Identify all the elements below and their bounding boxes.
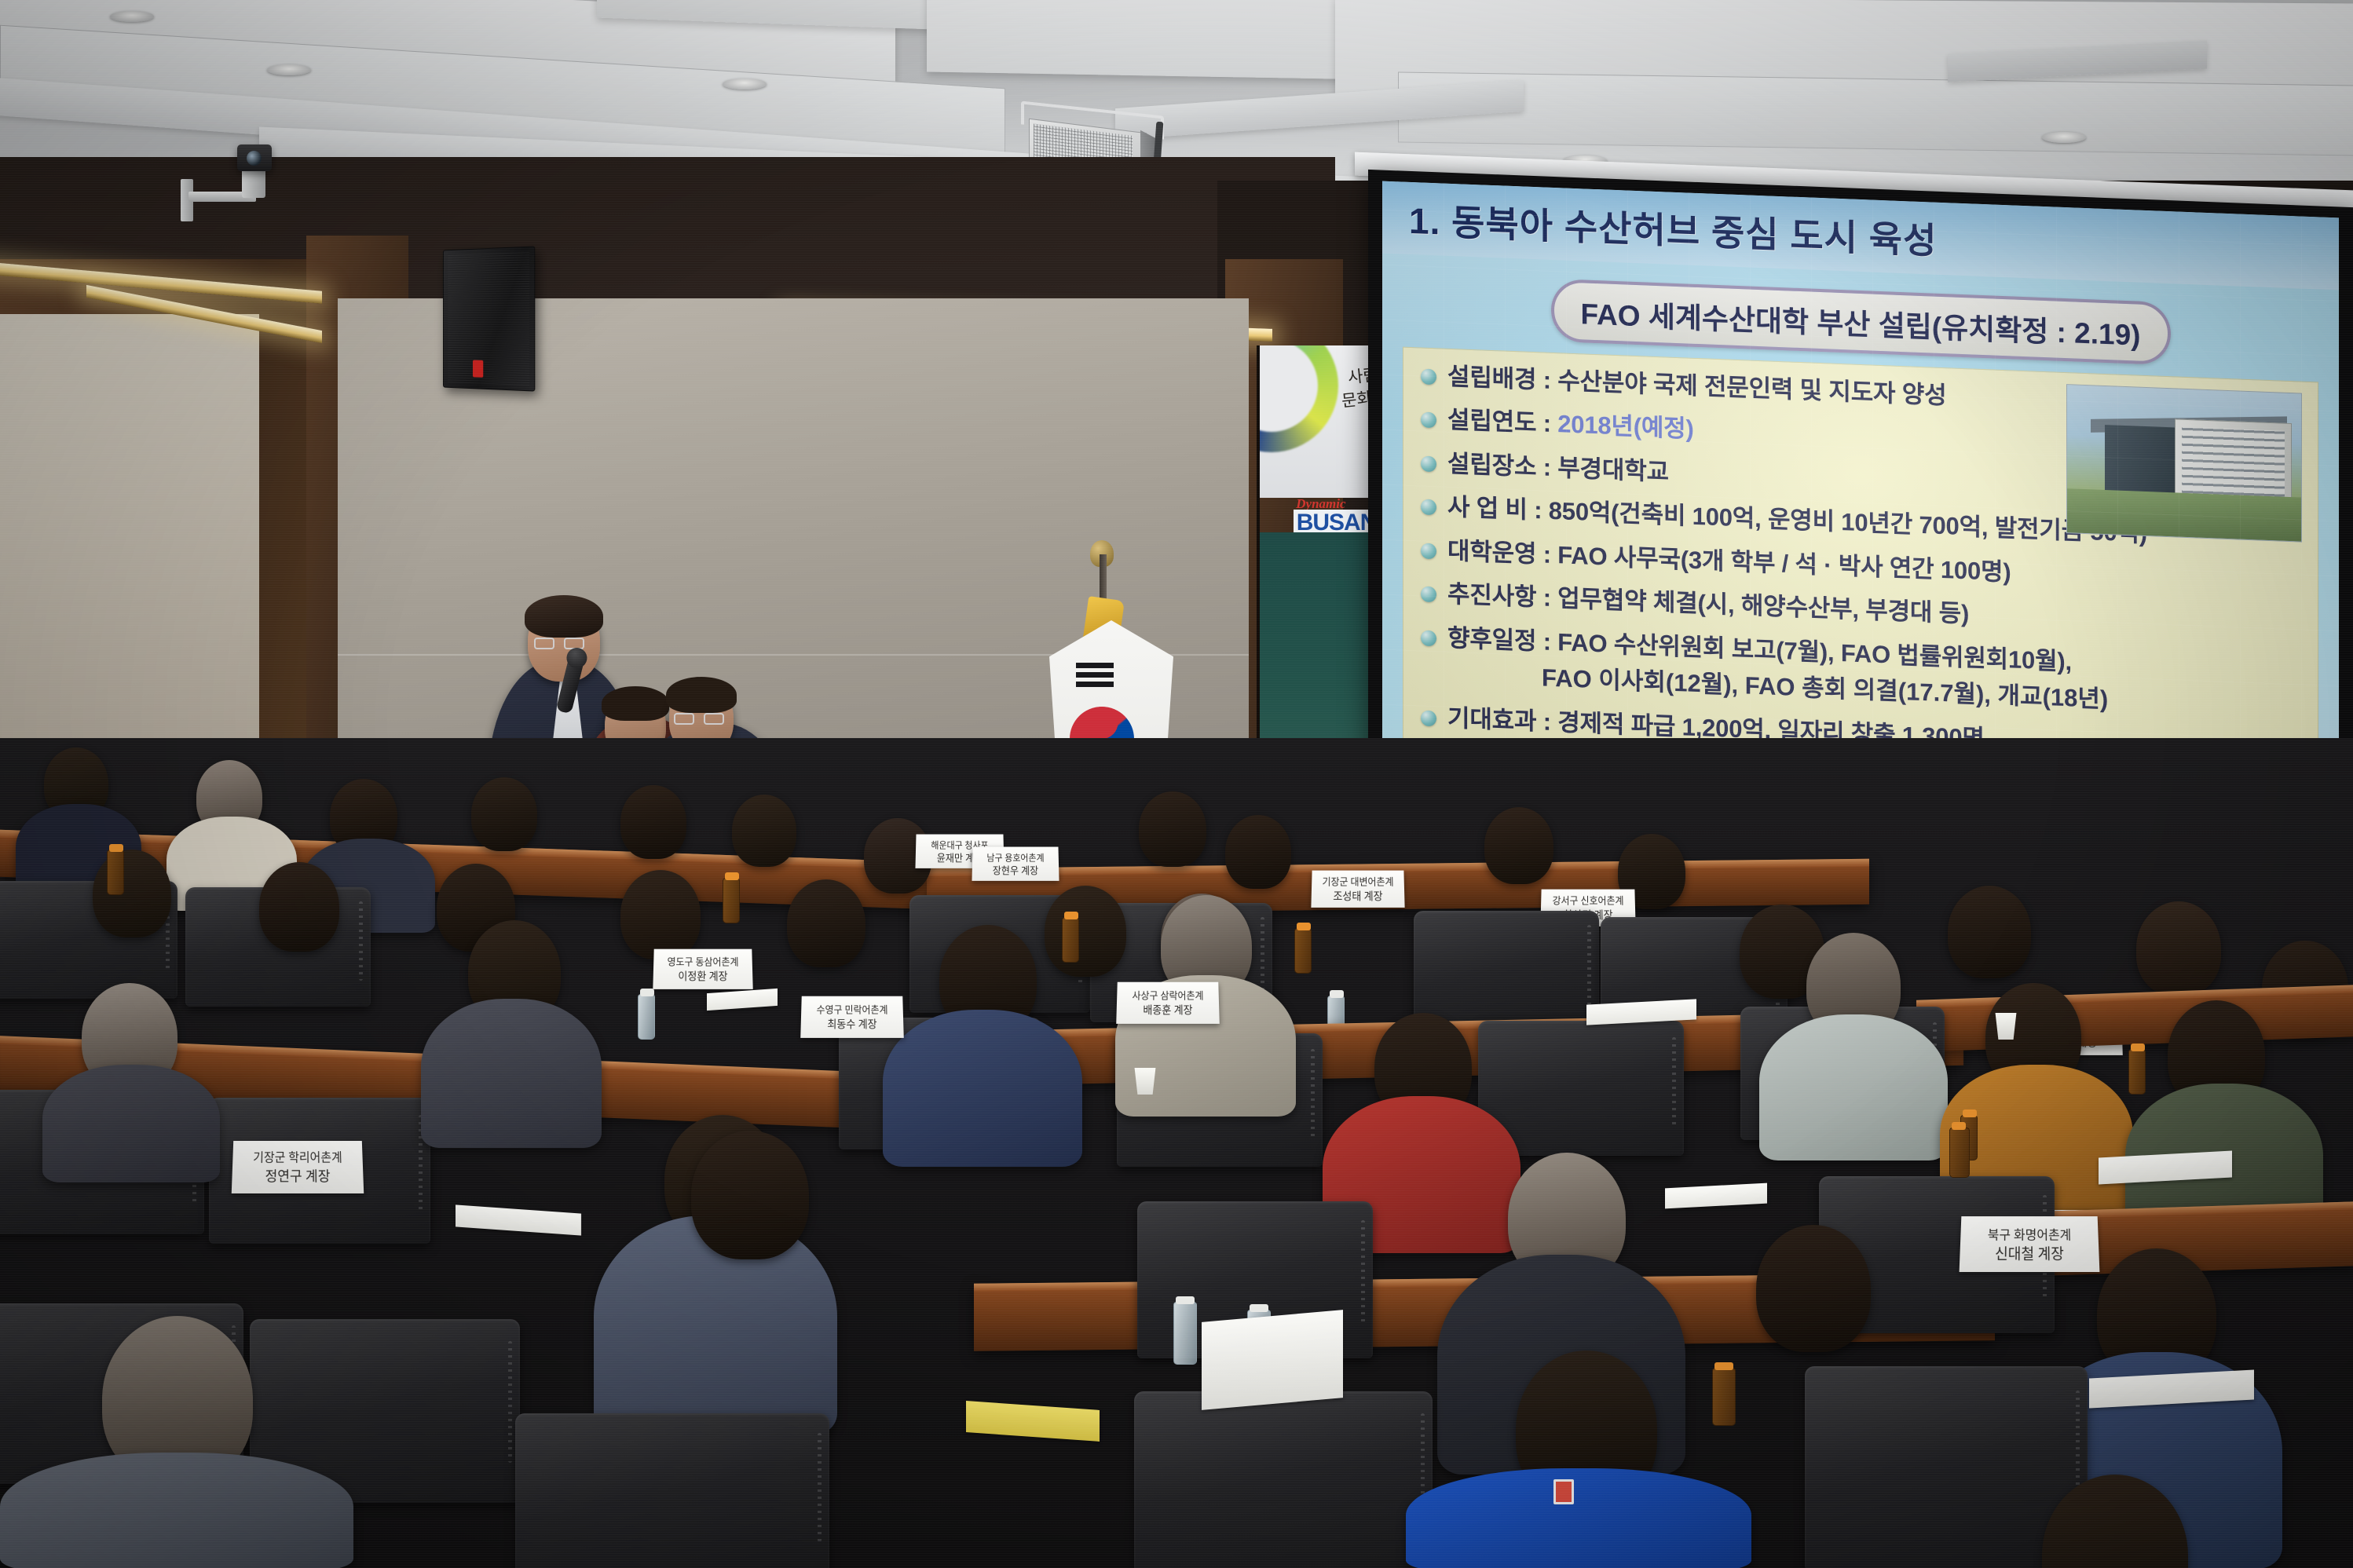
audience-head	[1756, 1225, 1871, 1352]
conference-room-photo: 사람과 문화로 Dynamic BUSAN 설명 제회의실 역기지 1. 동북아…	[0, 0, 2353, 1568]
drink-bottle	[1294, 928, 1312, 974]
name-placard: 수영구 민락어촌계 최동수 계장	[800, 996, 904, 1038]
campus-building-photo	[2066, 384, 2302, 543]
panelist-hair	[602, 686, 669, 721]
audience-head	[1225, 815, 1291, 889]
name-placard: 사상구 삼락어촌계 배종훈 계장	[1116, 982, 1220, 1024]
panelist-glasses-icon	[674, 713, 724, 725]
ceiling-downlight	[110, 11, 154, 22]
bullet-dot-icon	[1421, 710, 1436, 726]
name-placard: 남구 용호어촌계 장현우 계장	[972, 847, 1059, 881]
trigram-geon	[1076, 663, 1114, 691]
audience-body	[0, 1453, 353, 1568]
jacket-shoulder-patch	[1553, 1479, 1574, 1504]
ceiling-downlight	[2042, 132, 2086, 143]
audience-head	[1045, 886, 1126, 977]
bullet-text-group: 향후일정 : FAO 수산위원회 보고(7월), FAO 법률위원회10월), …	[1447, 623, 2108, 715]
drink-bottle	[2128, 1049, 2146, 1095]
bullet-dot-icon	[1421, 587, 1436, 603]
audience-head	[787, 879, 865, 967]
audience-body	[421, 999, 602, 1148]
drink-bottle	[723, 878, 740, 923]
speaker-hair	[525, 595, 603, 638]
bullet-dot-icon	[1421, 455, 1436, 472]
bullet-dot-icon	[1421, 543, 1436, 559]
audience-seat	[1134, 1391, 1433, 1568]
panelist-hair	[666, 677, 737, 713]
bullet-dot-icon	[1421, 630, 1436, 646]
audience-head	[1139, 791, 1206, 867]
audience-head	[732, 795, 796, 867]
slide-headline-pill: FAO 세계수산대학 부산 설립(유치확정 : 2.19)	[1551, 279, 2171, 365]
audience-head	[620, 870, 701, 959]
bullet-highlight: 2018년(예정)	[1557, 411, 1693, 444]
audience-body-blue-jacket	[1406, 1468, 1751, 1568]
audience-head	[1948, 886, 2031, 978]
document-paper	[1202, 1310, 1343, 1410]
audience-body	[42, 1065, 220, 1182]
name-placard: 영도구 동삼어촌계 이정환 계장	[653, 949, 752, 989]
audience-head	[691, 1131, 809, 1259]
audience-seat	[515, 1413, 829, 1568]
water-bottle	[1173, 1302, 1197, 1365]
audience-head	[471, 777, 537, 851]
name-placard: 기장군 대변어촌계 조성태 계장	[1311, 871, 1404, 908]
name-placard: 기장군 학리어촌계 정연구 계장	[232, 1141, 364, 1193]
bullet-text: 설립배경 : 수산분야 국제 전문인력 및 지도자 양성	[1447, 362, 1946, 411]
bullet-text: 대학운영 : FAO 사무국(3개 학부 / 석 · 박사 연간 100명)	[1447, 536, 2011, 588]
drink-bottle	[1712, 1368, 1736, 1426]
drink-bottle	[1949, 1128, 1970, 1178]
audience-seat	[1414, 911, 1599, 1032]
drink-bottle	[107, 850, 124, 895]
water-bottle	[638, 994, 655, 1040]
bullet-dot-icon	[1421, 499, 1436, 516]
ceiling-downlight	[723, 79, 767, 90]
audience-body	[1759, 1014, 1948, 1160]
wall-speaker	[443, 246, 535, 391]
name-placard: 북구 화명어촌계 신대철 계장	[1960, 1216, 2100, 1272]
slide-title: 1. 동북아 수산허브 중심 도시 육성	[1409, 192, 1937, 265]
ceiling-downlight	[267, 64, 311, 75]
audience-head	[93, 850, 171, 938]
audience-head	[259, 862, 339, 952]
audience-head	[620, 785, 686, 859]
drink-bottle	[1062, 917, 1079, 963]
bullet-dot-icon	[1421, 368, 1436, 385]
audience-body	[883, 1010, 1082, 1167]
security-camera-icon	[188, 140, 283, 234]
bullet-text: 설립장소 : 부경대학교	[1447, 449, 1669, 488]
bullet-text: 설립연도 : 2018년(예정)	[1447, 405, 1694, 444]
audience-head	[2136, 901, 2221, 996]
bullet-text: 추진사항 : 업무협약 체결(시, 해양수산부, 부경대 등)	[1447, 579, 1969, 630]
audience-head	[1484, 807, 1553, 884]
bullet-dot-icon	[1421, 412, 1436, 429]
